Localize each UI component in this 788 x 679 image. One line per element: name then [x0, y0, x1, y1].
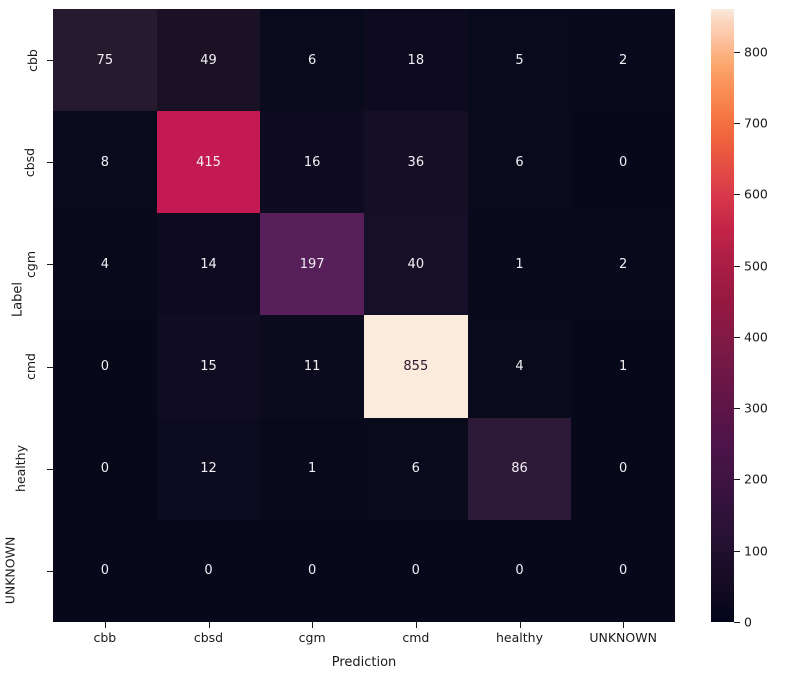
heatmap-cell: 1 — [468, 213, 572, 315]
heatmap-cell: 5 — [468, 9, 572, 111]
heatmap-cell: 49 — [157, 9, 261, 111]
heatmap-cell: 15 — [157, 315, 261, 417]
heatmap-cell: 1 — [571, 315, 675, 417]
y-tick-label-cbb: cbb — [0, 9, 44, 111]
colorbar-tick-mark — [734, 479, 740, 480]
heatmap-cell: 0 — [571, 418, 675, 520]
heatmap-cell: 0 — [364, 520, 468, 622]
heatmap-grid: 7549618528415163660414197401201511855410… — [53, 9, 675, 622]
heatmap-cell: 0 — [468, 520, 572, 622]
x-tick-mark — [209, 622, 210, 628]
heatmap-cell: 14 — [157, 213, 261, 315]
heatmap-cell: 0 — [53, 418, 157, 520]
x-tick-mark — [416, 622, 417, 628]
heatmap-cell: 415 — [157, 111, 261, 213]
y-tick-mark — [47, 367, 53, 368]
x-tick-mark — [312, 622, 313, 628]
colorbar-tick-label-300: 300 — [744, 401, 768, 416]
heatmap-cell: 6 — [468, 111, 572, 213]
y-tick-mark — [47, 60, 53, 61]
x-tick-mark — [623, 622, 624, 628]
y-tick-label-unknown: UNKNOWN — [0, 520, 44, 622]
heatmap-cell: 0 — [157, 520, 261, 622]
heatmap-cell: 18 — [364, 9, 468, 111]
y-tick-mark — [47, 571, 53, 572]
x-tick-label-cmd: cmd — [364, 630, 468, 645]
heatmap-cell: 40 — [364, 213, 468, 315]
x-tick-label-healthy: healthy — [468, 630, 572, 645]
heatmap-cell: 0 — [53, 315, 157, 417]
heatmap-cell: 6 — [364, 418, 468, 520]
x-tick-label-cgm: cgm — [260, 630, 364, 645]
heatmap-cell: 0 — [571, 520, 675, 622]
heatmap-cell: 2 — [571, 213, 675, 315]
colorbar-tick-mark — [734, 266, 740, 267]
colorbar-tick-label-100: 100 — [744, 543, 768, 558]
heatmap-cell: 4 — [468, 315, 572, 417]
colorbar-tick-mark — [734, 551, 740, 552]
colorbar-gradient — [711, 9, 734, 622]
y-axis-title: Label — [11, 250, 26, 350]
heatmap-cell: 0 — [571, 111, 675, 213]
heatmap-cell: 16 — [260, 111, 364, 213]
colorbar-tick-label-0: 0 — [744, 615, 752, 630]
colorbar-tick-label-600: 600 — [744, 187, 768, 202]
heatmap-cell: 855 — [364, 315, 468, 417]
x-tick-label-cbb: cbb — [53, 630, 157, 645]
y-tick-mark — [47, 469, 53, 470]
confusion-matrix-figure: 7549618528415163660414197401201511855410… — [0, 0, 788, 679]
colorbar-tick-mark — [734, 408, 740, 409]
y-tick-label-cbsd: cbsd — [0, 111, 44, 213]
y-tick-label-healthy: healthy — [0, 418, 44, 520]
x-tick-mark — [105, 622, 106, 628]
colorbar-tick-mark — [734, 194, 740, 195]
colorbar-tick-mark — [734, 52, 740, 53]
heatmap-cell: 0 — [53, 520, 157, 622]
heatmap-cell: 11 — [260, 315, 364, 417]
colorbar-tick-label-400: 400 — [744, 329, 768, 344]
x-tick-mark — [520, 622, 521, 628]
heatmap-cell: 1 — [260, 418, 364, 520]
x-tick-label-cbsd: cbsd — [157, 630, 261, 645]
colorbar-tick-label-200: 200 — [744, 472, 768, 487]
heatmap-cell: 2 — [571, 9, 675, 111]
heatmap-cell: 36 — [364, 111, 468, 213]
heatmap-cell: 4 — [53, 213, 157, 315]
x-axis-title: Prediction — [53, 655, 675, 670]
y-tick-mark — [47, 162, 53, 163]
heatmap-cell: 197 — [260, 213, 364, 315]
colorbar-tick-mark — [734, 123, 740, 124]
heatmap-cell: 12 — [157, 418, 261, 520]
heatmap-cell: 0 — [260, 520, 364, 622]
colorbar-tick-label-800: 800 — [744, 44, 768, 59]
heatmap-cell: 75 — [53, 9, 157, 111]
colorbar-tick-label-500: 500 — [744, 258, 768, 273]
x-tick-label-unknown: UNKNOWN — [571, 630, 675, 645]
colorbar-tick-mark — [734, 622, 740, 623]
heatmap-cell: 8 — [53, 111, 157, 213]
colorbar-tick-mark — [734, 337, 740, 338]
colorbar-tick-label-700: 700 — [744, 116, 768, 131]
heatmap-cell: 86 — [468, 418, 572, 520]
heatmap-cell: 6 — [260, 9, 364, 111]
y-tick-mark — [47, 264, 53, 265]
